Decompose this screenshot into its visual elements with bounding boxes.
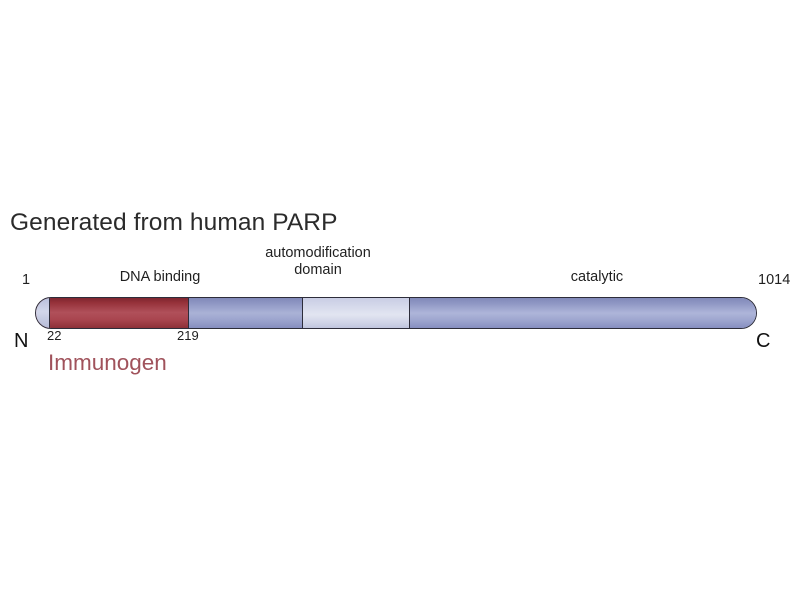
domain-label-automodification-line1: automodification [238, 245, 398, 262]
divider-auto-mid [302, 298, 303, 328]
position-label-end: 1014 [758, 272, 790, 288]
label-n-terminus: N [14, 330, 28, 353]
protein-domain-bar [35, 297, 757, 329]
domain-label-automodification-line2: domain [238, 262, 398, 279]
immunogen-start-position: 22 [47, 328, 61, 343]
domain-label-catalytic: catalytic [547, 269, 647, 286]
segment-automodification-light [303, 298, 410, 328]
immunogen-end-position: 219 [177, 328, 199, 343]
protein-domain-figure: Generated from human PARP 1 DNA binding … [0, 0, 800, 600]
divider-auto-catalytic [409, 298, 410, 328]
immunogen-label: Immunogen [48, 350, 167, 376]
domain-label-dna-binding: DNA binding [100, 269, 220, 286]
divider-dna-auto [188, 298, 189, 328]
domain-label-automodification: automodification domain [238, 245, 398, 279]
segment-catalytic [410, 298, 756, 328]
label-c-terminus: C [756, 330, 770, 353]
segment-dna-binding [36, 298, 189, 328]
figure-title: Generated from human PARP [10, 208, 338, 238]
position-label-start: 1 [22, 272, 30, 288]
segment-automodification-dark [189, 298, 303, 328]
